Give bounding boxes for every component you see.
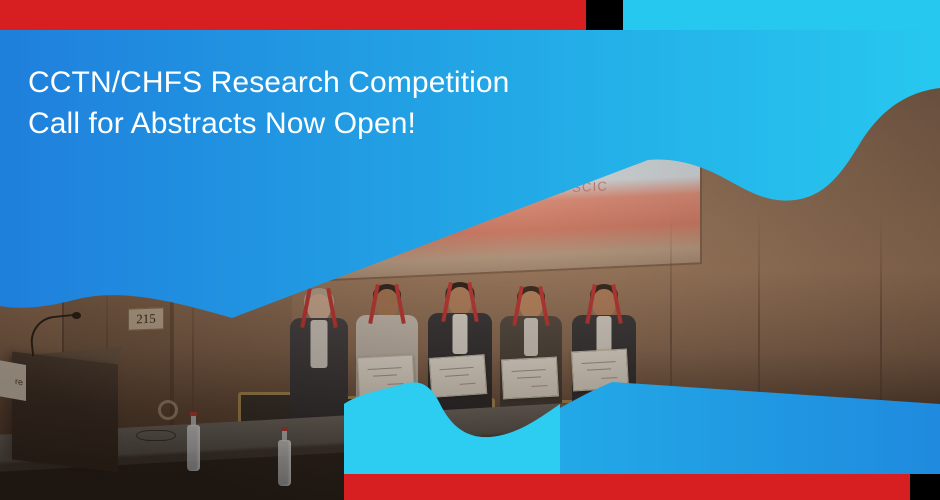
headline: CCTN/CHFS Research Competition Call for … <box>28 62 628 144</box>
promo-banner: CARDIOVASCULAR CONGRESS CONGRÈS CANADIEN… <box>0 0 940 500</box>
headline-line-2: Call for Abstracts Now Open! <box>28 103 628 144</box>
headline-line-1: CCTN/CHFS Research Competition <box>28 66 509 99</box>
